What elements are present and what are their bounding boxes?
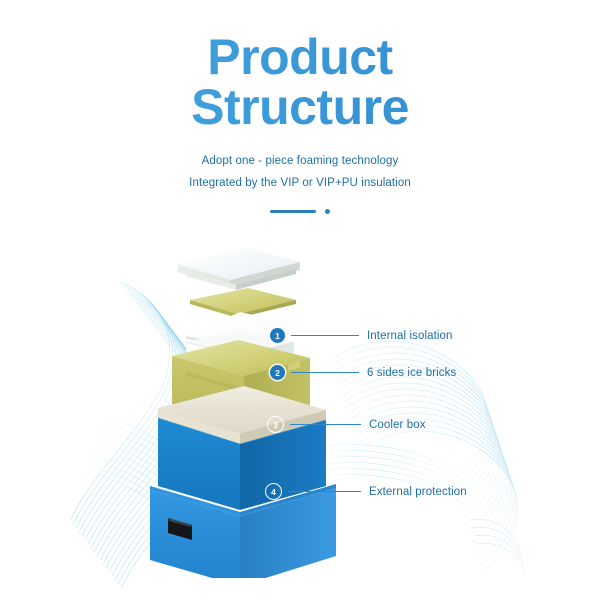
callout-leader-2	[291, 372, 359, 373]
callout-label-4: External protection	[369, 486, 467, 498]
layer-lid-slab	[178, 248, 300, 290]
callout-badge-1: 1	[270, 328, 285, 343]
callout-badge-4: 4	[265, 483, 282, 500]
subtitle-line-1: Adopt one - piece foaming technology	[0, 150, 600, 172]
divider-bar	[270, 210, 316, 213]
callout-cooler-box[interactable]: 3 Cooler box	[267, 416, 426, 433]
callout-label-2: 6 sides ice bricks	[367, 367, 456, 379]
callout-internal-isolation[interactable]: 1 Internal isolation	[270, 328, 453, 343]
callout-label-3: Cooler box	[369, 419, 426, 431]
callout-leader-4	[288, 491, 361, 492]
callout-badge-2: 2	[270, 365, 285, 380]
header-block: Product Structure Adopt one - piece foam…	[0, 30, 600, 214]
subtitle-line-2: Integrated by the VIP or VIP+PU insulati…	[0, 172, 600, 194]
callout-leader-3	[290, 424, 361, 425]
page-title-line-2: Structure	[0, 80, 600, 134]
callout-ice-bricks[interactable]: 2 6 sides ice bricks	[270, 365, 456, 380]
callout-badge-3: 3	[267, 416, 284, 433]
callout-external-protection[interactable]: 4 External protection	[265, 483, 467, 500]
infographic-page: Product Structure Adopt one - piece foam…	[0, 0, 600, 600]
callout-leader-1	[291, 335, 359, 336]
page-title-line-1: Product	[0, 30, 600, 84]
divider-dot	[325, 209, 330, 214]
callout-label-1: Internal isolation	[367, 330, 453, 342]
section-divider	[0, 209, 600, 214]
product-illustration	[0, 238, 600, 578]
subtitle-block: Adopt one - piece foaming technology Int…	[0, 150, 600, 195]
